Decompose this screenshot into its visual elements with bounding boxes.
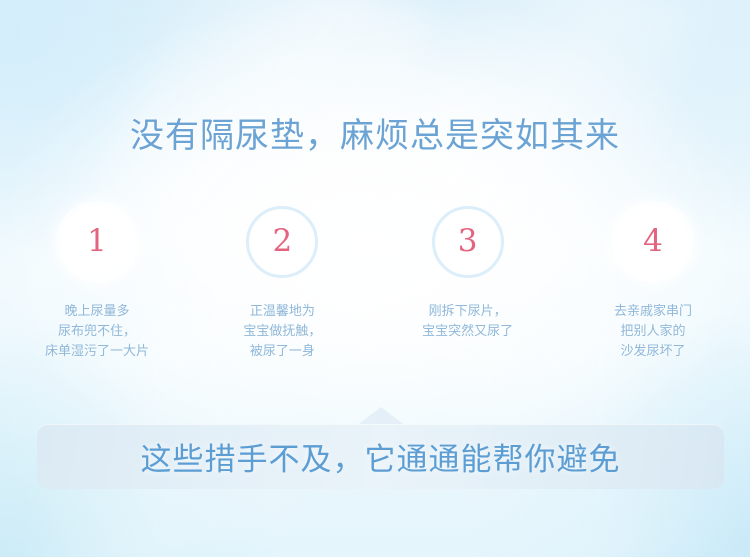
solution-banner: 这些措手不及，它通通能帮你避免	[37, 424, 724, 489]
step-number: 1	[87, 226, 107, 257]
list-item: 4 去亲戚家串门 把别人家的 沙发尿坏了	[568, 206, 738, 362]
step-caption: 正温馨地为 宝宝做抚触， 被尿了一身	[243, 302, 321, 362]
promo-poster: 没有隔尿垫，麻烦总是突如其来 1 晚上尿量多 尿布兜不住， 床单湿污了一大片 2…	[0, 0, 750, 557]
step-number: 2	[272, 226, 292, 257]
step-badge-2: 2	[246, 206, 318, 278]
step-caption: 晚上尿量多 尿布兜不住， 床单湿污了一大片	[45, 302, 149, 362]
triangle-pointer-icon	[359, 407, 403, 424]
step-number: 3	[458, 226, 478, 257]
list-item: 2 正温馨地为 宝宝做抚触， 被尿了一身	[197, 206, 367, 362]
solution-banner-text: 这些措手不及，它通通能帮你避免	[141, 434, 621, 479]
step-badge-3: 3	[432, 206, 504, 278]
list-item: 1 晚上尿量多 尿布兜不住， 床单湿污了一大片	[12, 206, 182, 362]
step-caption: 刚拆下尿片， 宝宝突然又尿了	[422, 302, 513, 342]
list-item: 3 刚拆下尿片， 宝宝突然又尿了	[383, 206, 553, 362]
step-number: 4	[643, 226, 663, 257]
page-title: 没有隔尿垫，麻烦总是突如其来	[0, 118, 750, 155]
step-badge-4: 4	[617, 206, 689, 278]
problem-list: 1 晚上尿量多 尿布兜不住， 床单湿污了一大片 2 正温馨地为 宝宝做抚触， 被…	[0, 206, 750, 362]
step-caption: 去亲戚家串门 把别人家的 沙发尿坏了	[614, 302, 692, 362]
step-badge-1: 1	[61, 206, 133, 278]
